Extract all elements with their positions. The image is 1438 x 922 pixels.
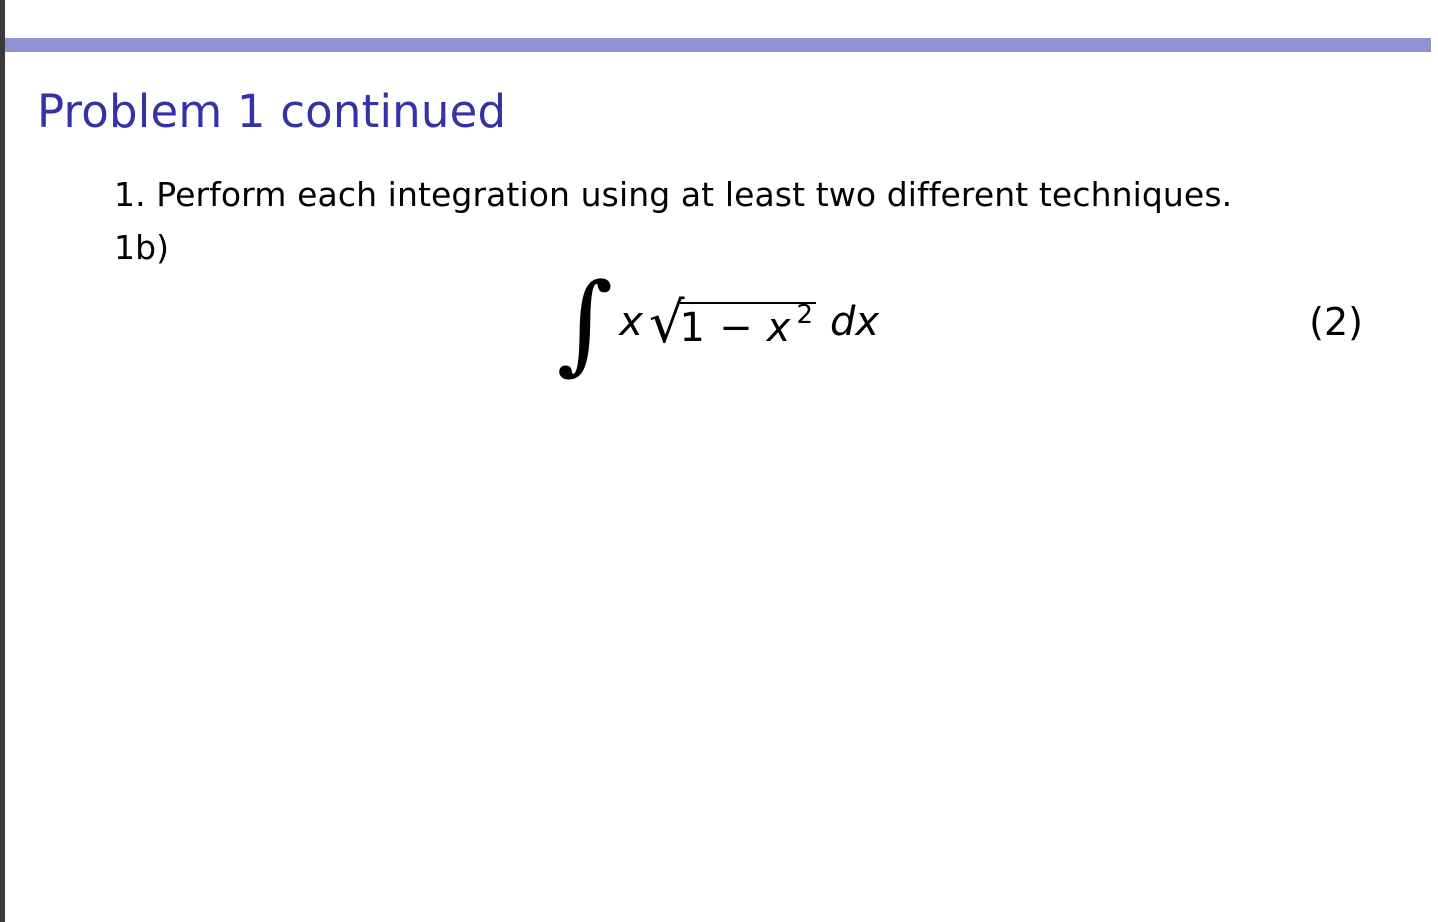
radicand: 1 − x 2 <box>680 302 816 348</box>
radicand-term-one: 1 <box>680 305 705 351</box>
slide: Problem 1 continued 1. Perform each inte… <box>0 0 1438 922</box>
equation-number: (2) <box>1309 303 1363 341</box>
math-expression: ∫ x √ 1 − x 2 dx <box>557 278 879 367</box>
page-title: Problem 1 continued <box>37 86 506 138</box>
enumerate-item-1: 1. Perform each integration using at lea… <box>114 168 1376 221</box>
integral-sign-icon: ∫ <box>557 280 613 369</box>
minus-operator: − <box>710 305 762 351</box>
display-equation-row: ∫ x √ 1 − x 2 dx (2) <box>5 262 1431 382</box>
header-rule <box>5 38 1431 52</box>
differential-dx: dx <box>830 302 879 342</box>
radicand-term-x: x <box>767 305 791 351</box>
square-root-icon: √ 1 − x 2 <box>647 299 816 345</box>
math-factor-x: x <box>619 302 643 342</box>
radicand-exponent: 2 <box>796 300 813 330</box>
display-equation: ∫ x √ 1 − x 2 dx <box>5 262 1431 382</box>
left-edge-strip <box>0 0 5 922</box>
body-content: 1. Perform each integration using at lea… <box>114 168 1376 275</box>
